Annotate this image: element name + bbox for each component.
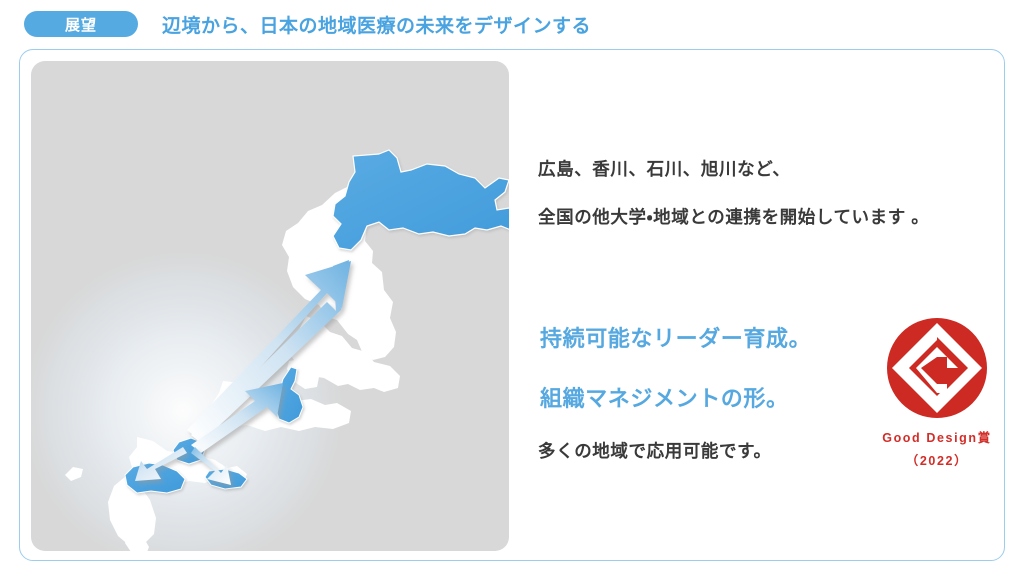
lead-line-1: 広島、香川、石川、旭川など、	[538, 161, 988, 179]
japan-map-icon	[31, 61, 509, 551]
content-card: 広島、香川、石川、旭川など、 全国の他大学・地域との連携を開始しています 。 持…	[19, 49, 1005, 561]
lead-line-2: 全国の他大学・地域との連携を開始しています 。	[538, 209, 988, 227]
award-title: Good Design賞	[872, 427, 1002, 446]
highlight-text-2: 組織マネジメントの形。	[538, 388, 793, 412]
award-year: （2022）	[872, 450, 1002, 469]
good-design-award-logo-icon	[885, 316, 989, 420]
page-title: 辺境から、日本の地域医療の未来をデザインする	[162, 11, 591, 38]
good-design-award: Good Design賞 （2022）	[872, 316, 1002, 469]
highlight-statements: 持続可能なリーダー育成。 組織マネジメントの形。	[538, 328, 898, 412]
closing-statement: 多くの地域で応用可能です。	[538, 438, 772, 463]
highlight-row-2: 組織マネジメントの形。	[538, 388, 898, 412]
highlight-text-1: 持続可能なリーダー育成。	[538, 328, 815, 352]
section-badge: 展望	[24, 11, 138, 37]
content-column: 広島、香川、石川、旭川など、 全国の他大学・地域との連携を開始しています 。 持…	[538, 61, 993, 551]
map-region-hokkaido	[333, 150, 509, 250]
page-header: 展望 辺境から、日本の地域医療の未来をデザインする	[0, 0, 1024, 48]
japan-map-panel	[31, 61, 509, 551]
highlight-row-1: 持続可能なリーダー育成。	[538, 328, 898, 352]
lead-paragraph: 広島、香川、石川、旭川など、 全国の他大学・地域との連携を開始しています 。	[538, 161, 988, 226]
